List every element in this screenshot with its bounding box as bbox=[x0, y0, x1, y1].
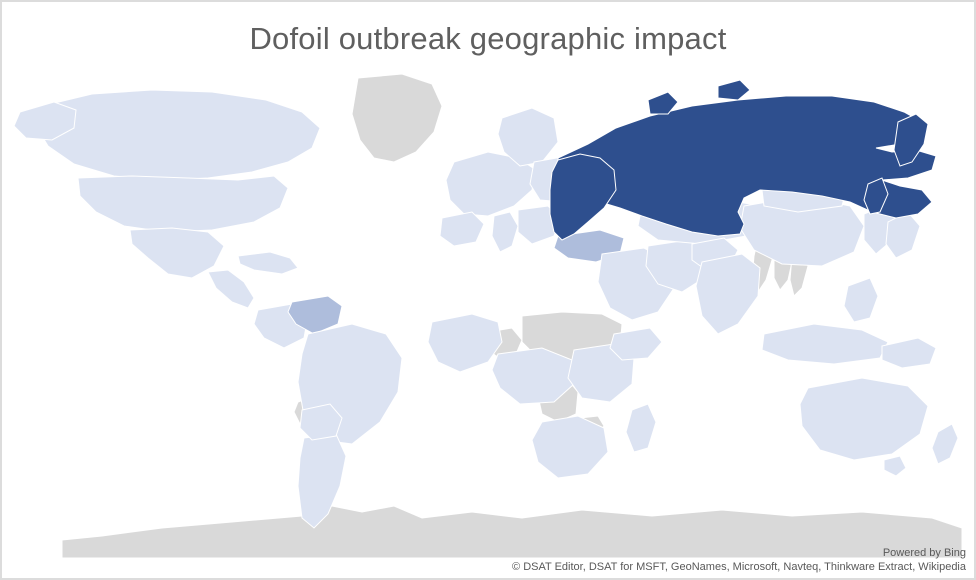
region-canada[interactable] bbox=[36, 90, 320, 180]
map-attribution: Powered by Bing © DSAT Editor, DSAT for … bbox=[512, 546, 966, 574]
region-central-america[interactable] bbox=[208, 270, 254, 308]
region-philippines[interactable] bbox=[844, 278, 878, 322]
region-southern-africa[interactable] bbox=[532, 416, 608, 478]
region-west-africa[interactable] bbox=[428, 314, 502, 372]
world-map-svg[interactable]: .base { fill:#dce3f2; stroke:#ffffff; st… bbox=[2, 66, 976, 566]
region-new-guinea[interactable] bbox=[882, 338, 936, 368]
powered-by-label: Powered by Bing bbox=[512, 546, 966, 560]
region-madagascar[interactable] bbox=[626, 404, 656, 452]
region-united-states[interactable] bbox=[78, 176, 288, 232]
region-australia[interactable] bbox=[800, 378, 928, 460]
copyright-label: © DSAT Editor, DSAT for MSFT, GeoNames, … bbox=[512, 560, 966, 574]
region-iberia[interactable] bbox=[440, 212, 484, 246]
map-canvas[interactable]: .base { fill:#dce3f2; stroke:#ffffff; st… bbox=[2, 66, 976, 566]
region-tasmania[interactable] bbox=[884, 456, 906, 476]
filled-map-visual[interactable]: Dofoil outbreak geographic impact .base … bbox=[0, 0, 976, 580]
region-india[interactable] bbox=[696, 254, 760, 334]
page-title: Dofoil outbreak geographic impact bbox=[2, 18, 974, 60]
region-russia-west[interactable] bbox=[550, 154, 616, 240]
region-new-zealand[interactable] bbox=[932, 424, 958, 464]
region-central-africa[interactable] bbox=[492, 348, 574, 404]
region-mexico[interactable] bbox=[130, 228, 224, 278]
region-indonesia[interactable] bbox=[762, 324, 888, 364]
region-greenland[interactable] bbox=[352, 74, 442, 162]
region-severnaya-zemlya[interactable] bbox=[718, 80, 750, 100]
region-italy[interactable] bbox=[492, 212, 518, 252]
region-caribbean[interactable] bbox=[238, 252, 298, 274]
